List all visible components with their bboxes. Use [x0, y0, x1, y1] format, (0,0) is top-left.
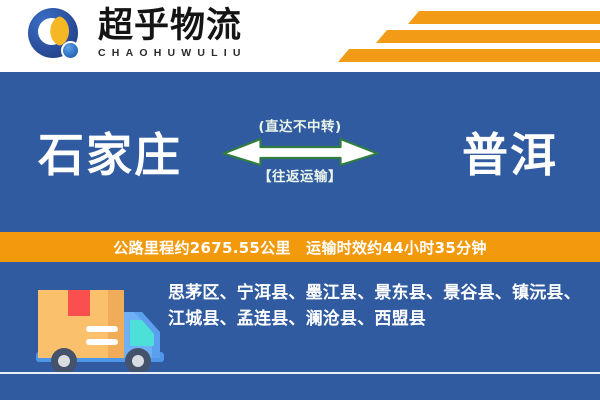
brand-name-cn: 超乎物流	[98, 6, 247, 46]
stripe-1	[408, 11, 600, 24]
destination-city: 普洱	[462, 119, 558, 185]
coverage-panel: 思茅区、宁洱县、墨江县、景东县、景谷县、镇沅县、江城县、孟连县、澜沧县、西盟县	[0, 262, 600, 400]
chaohu-circle-logo-icon	[28, 8, 84, 64]
header-stripes-decoration	[330, 0, 600, 72]
route-note-roundtrip: 【往返运输】	[213, 169, 388, 185]
logistics-route-banner: 超乎物流 CHAOHUWULIU 石家庄 (直达不中转) 【往返运输】 普洱 公…	[0, 0, 600, 400]
route-info-bar: 公路里程约2675.55公里 运输时效约44小时35分钟	[0, 232, 600, 262]
coverage-areas-text: 思茅区、宁洱县、墨江县、景东县、景谷县、镇沅县、江城县、孟连县、澜沧县、西盟县	[168, 280, 588, 332]
delivery-truck-icon	[30, 276, 170, 376]
route-panel: 石家庄 (直达不中转) 【往返运输】 普洱	[0, 72, 600, 232]
stripe-3	[338, 49, 600, 62]
origin-city: 石家庄	[38, 119, 182, 185]
brand-block: 超乎物流 CHAOHUWULIU	[98, 6, 247, 59]
double-headed-arrow-icon	[220, 137, 380, 167]
route-info-text: 公路里程约2675.55公里 运输时效约44小时35分钟	[113, 237, 486, 258]
banner-header: 超乎物流 CHAOHUWULIU	[0, 0, 600, 72]
stripe-2	[376, 30, 600, 43]
panel-divider	[0, 372, 600, 374]
route-note-direct: (直达不中转)	[213, 119, 388, 135]
brand-name-en: CHAOHUWULIU	[98, 47, 247, 59]
logo-dot-shape	[61, 41, 80, 60]
route-middle-block: (直达不中转) 【往返运输】	[213, 119, 388, 185]
